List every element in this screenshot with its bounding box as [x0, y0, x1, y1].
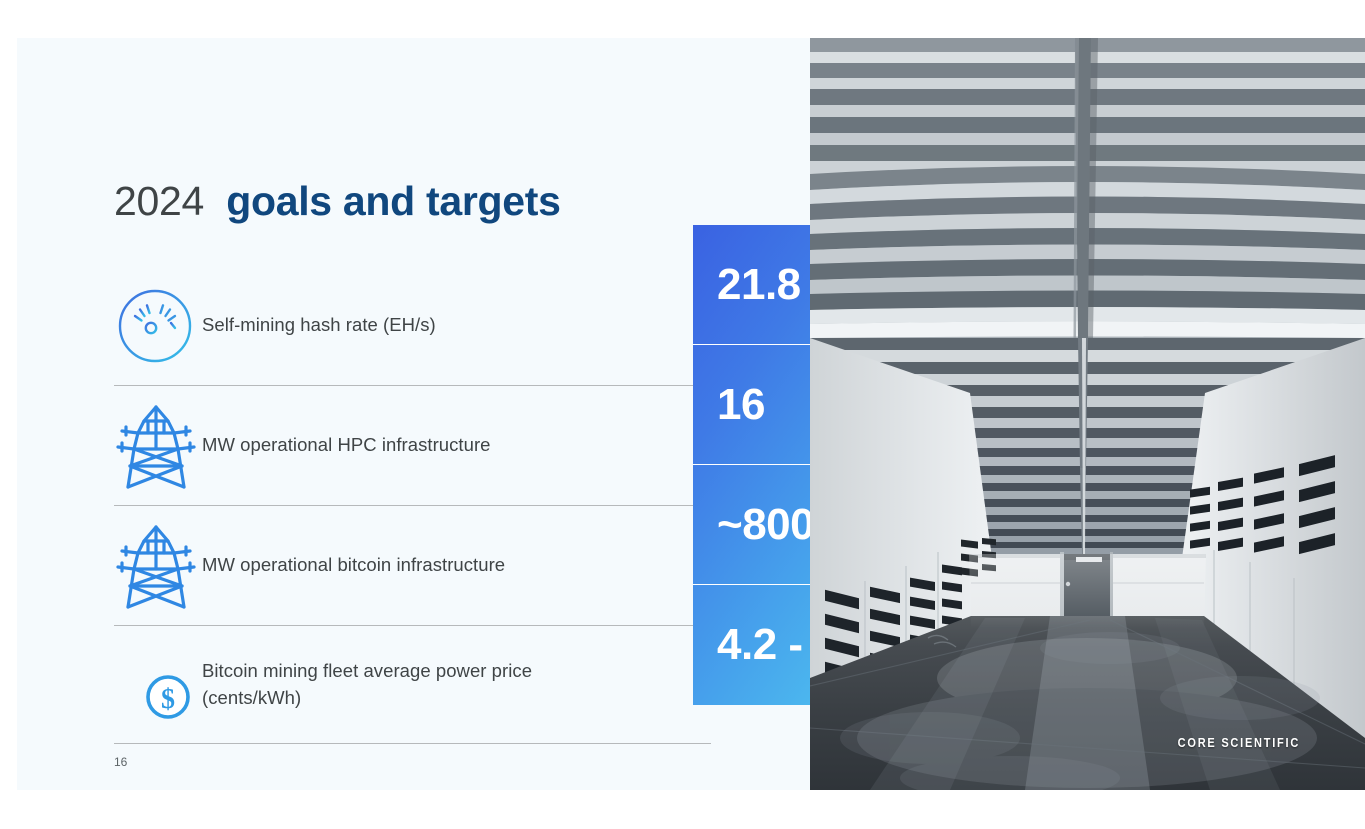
page-number: 16	[114, 755, 127, 769]
hash-rate-gauge-icon	[114, 266, 202, 385]
metric-label: Self-mining hash rate (EH/s)	[202, 312, 436, 339]
metric-row: MW operational bitcoin infrastructure	[114, 506, 711, 626]
metric-row: Self-mining hash rate (EH/s)	[114, 266, 711, 386]
warehouse-interior-photo: CORE SCIENTIFIC	[810, 38, 1365, 790]
power-price-dollar-icon: $	[114, 626, 202, 743]
metric-label-line1: Bitcoin mining fleet average power price	[202, 660, 532, 681]
title-accent: goals and targets	[226, 178, 560, 224]
title-year: 2024	[114, 178, 204, 224]
metric-label-line2: (cents/kWh)	[202, 687, 301, 708]
page-title: 2024 goals and targets	[114, 178, 561, 225]
transmission-tower-icon	[114, 386, 202, 505]
metric-row: MW operational HPC infrastructure	[114, 386, 711, 506]
metric-label: MW operational bitcoin infrastructure	[202, 552, 505, 579]
metrics-list: Self-mining hash rate (EH/s)	[114, 266, 711, 744]
core-scientific-logo: CORE SCIENTIFIC	[1178, 736, 1300, 750]
slide-canvas: 2024 goals and targets	[17, 38, 1365, 790]
metric-label: MW operational HPC infrastructure	[202, 432, 491, 459]
svg-text:$: $	[161, 684, 175, 715]
metric-label: Bitcoin mining fleet average power price…	[202, 658, 532, 712]
metric-row: $ Bitcoin mining fleet average power pri…	[114, 626, 711, 744]
transmission-tower-icon	[114, 506, 202, 625]
